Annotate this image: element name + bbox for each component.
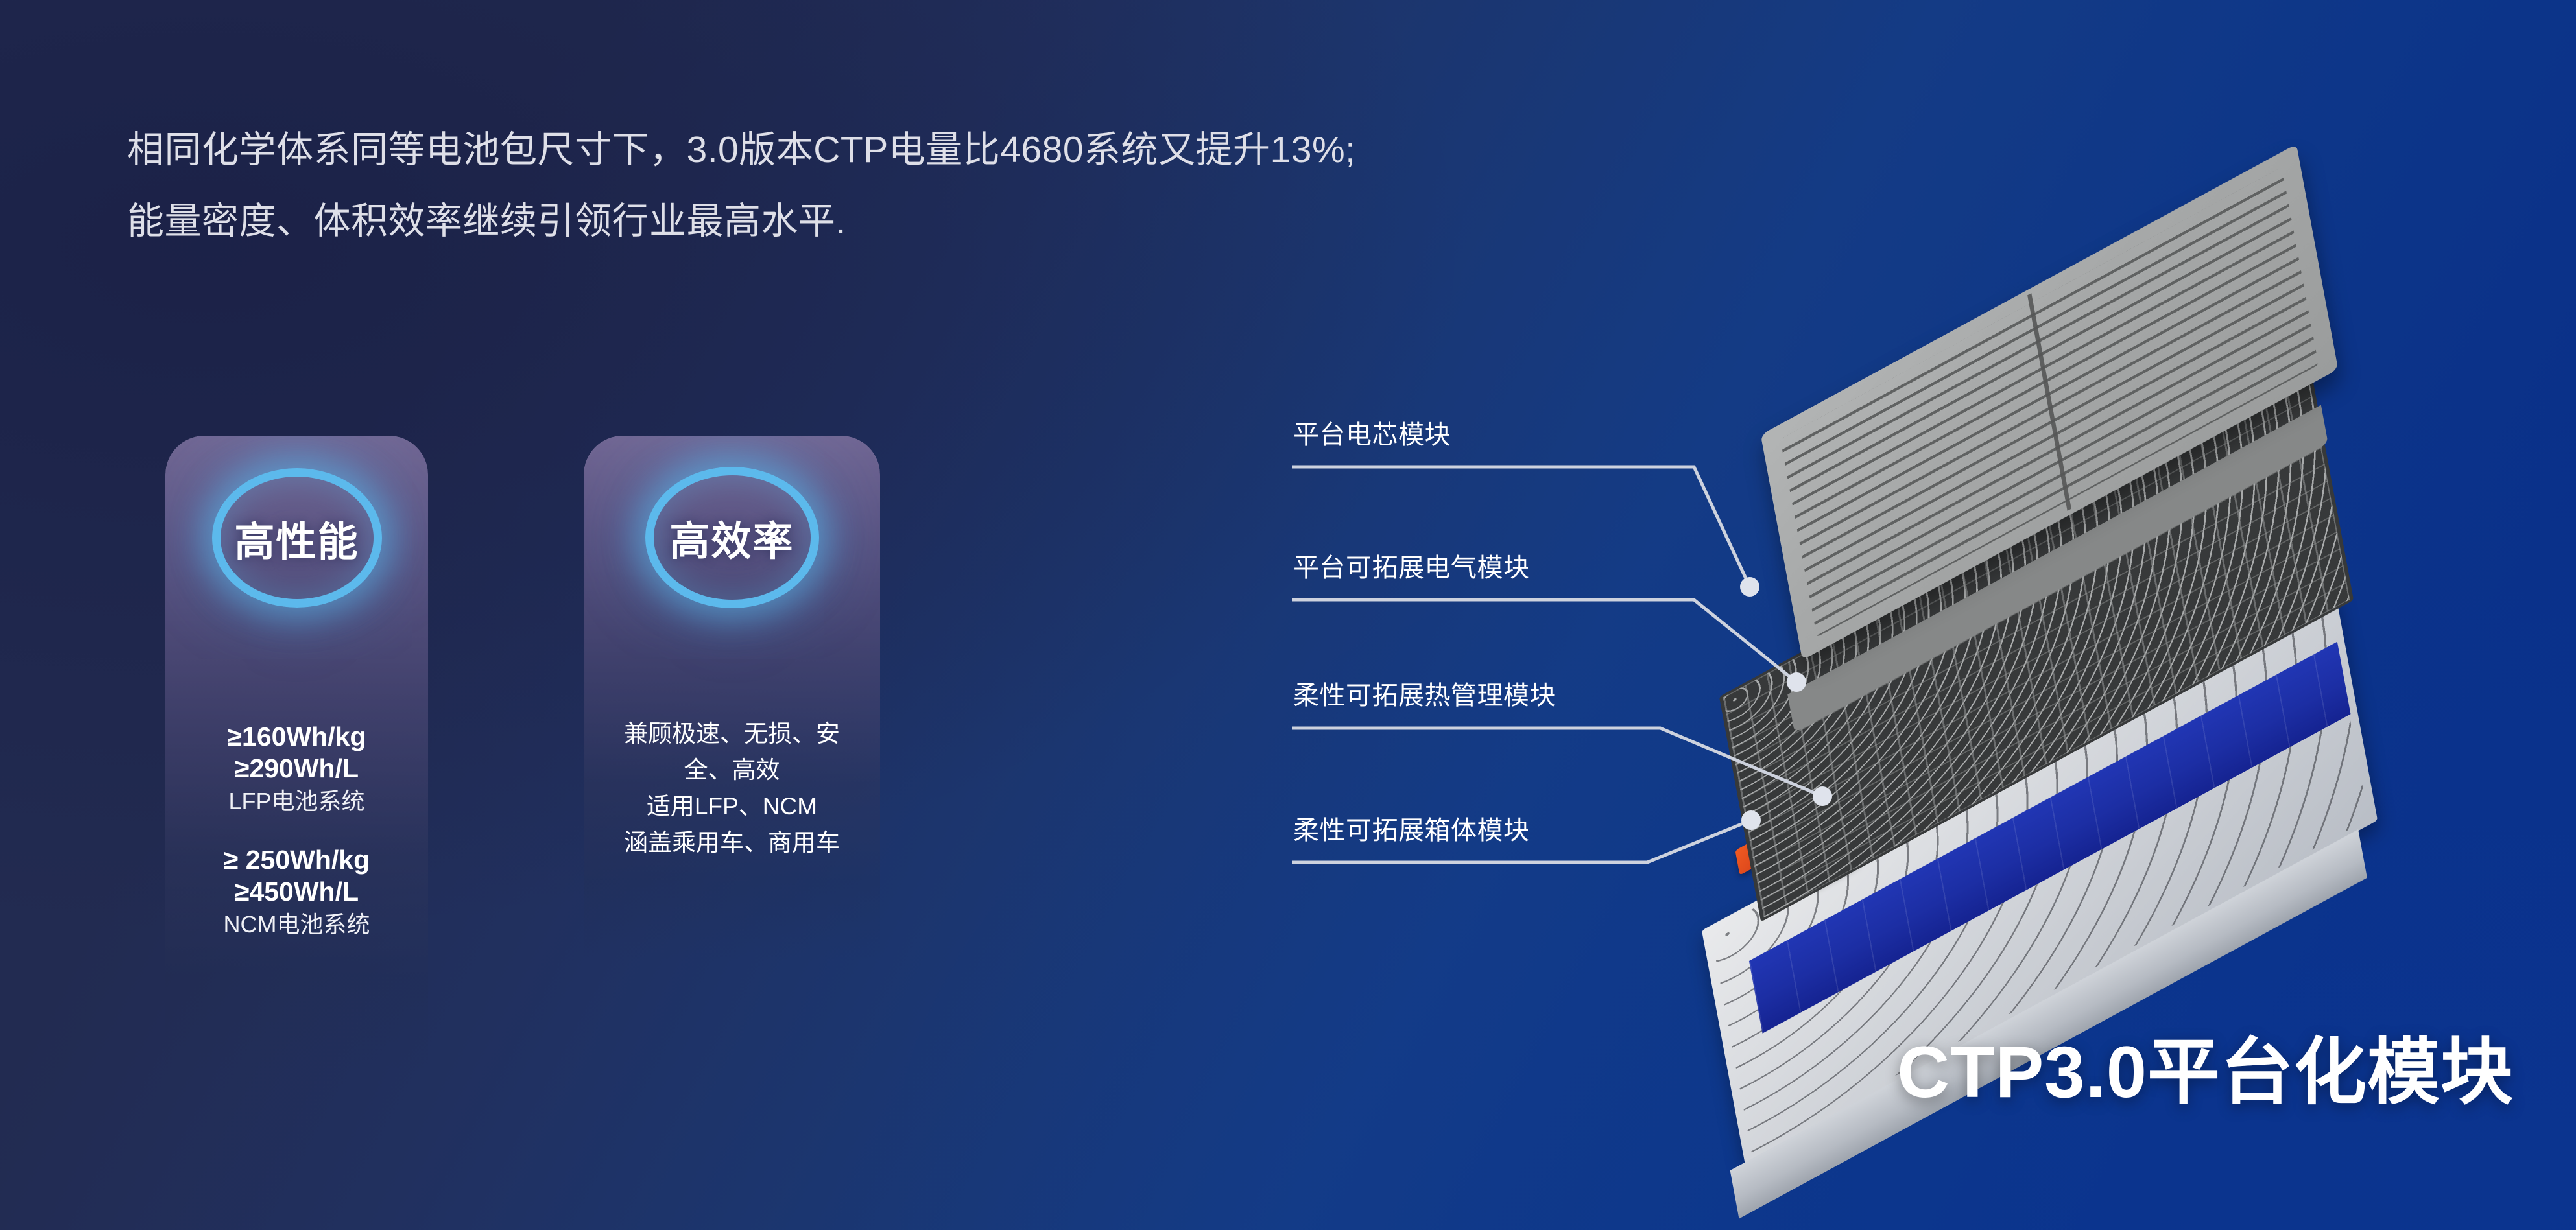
- callout-label-housing-module: 柔性可拓展箱体模块: [1293, 809, 1530, 847]
- callout-label-thermal-module: 柔性可拓展热管理模块: [1293, 674, 1556, 712]
- callout-label-cell-module: 平台电芯模块: [1293, 414, 1451, 451]
- page-title: CTP3.0平台化模块: [1897, 1013, 2514, 1118]
- callout-label-electrical-module: 平台可拓展电气模块: [1293, 547, 1530, 584]
